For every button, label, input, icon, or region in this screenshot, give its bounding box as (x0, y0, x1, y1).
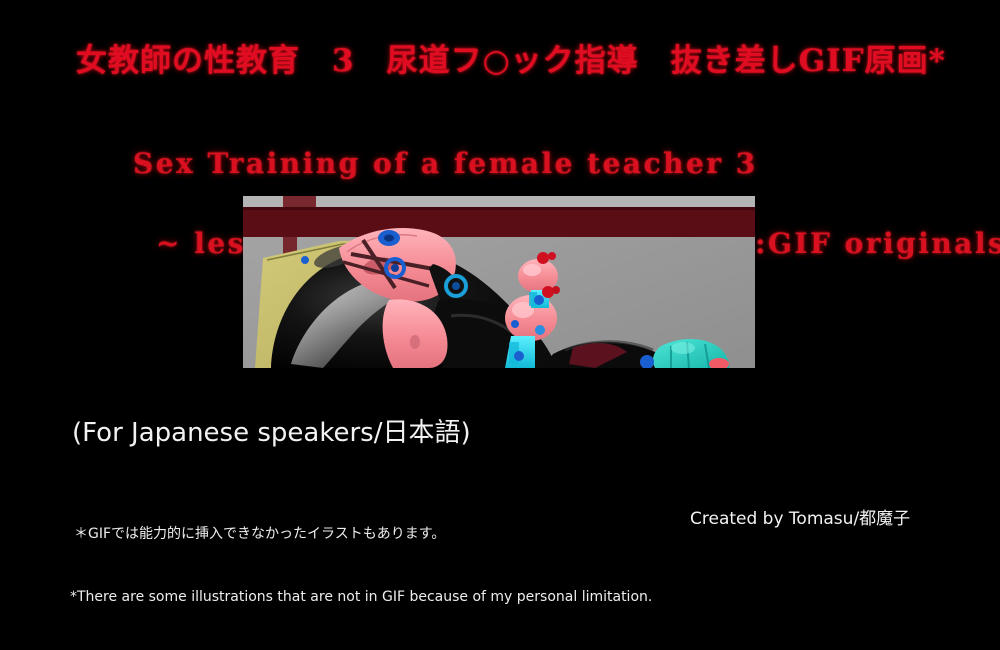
credit-line: Created by Tomasu/都魔子 (690, 508, 910, 530)
footnote-japanese: ＊GIFでは能力的に挿入できなかったイラストもあります。 (70, 524, 652, 545)
title-english-line1: Sex Training of a female teacher 3 (133, 147, 758, 180)
title-japanese: 女教師の性教育 3 尿道フ○ック指導 抜き差しGIF原画* (76, 42, 956, 80)
illustration-image (243, 196, 755, 368)
footnote-english: *There are some illustrations that are n… (70, 587, 652, 608)
slide-canvas: 女教師の性教育 3 尿道フ○ック指導 抜き差しGIF原画* Sex Traini… (0, 0, 1000, 562)
illustration-artwork (243, 196, 755, 368)
japanese-speakers-note: (For Japanese speakers/日本語) (72, 417, 471, 449)
footnotes: ＊GIFでは能力的に挿入できなかったイラストもあります。 *There are … (70, 482, 652, 650)
